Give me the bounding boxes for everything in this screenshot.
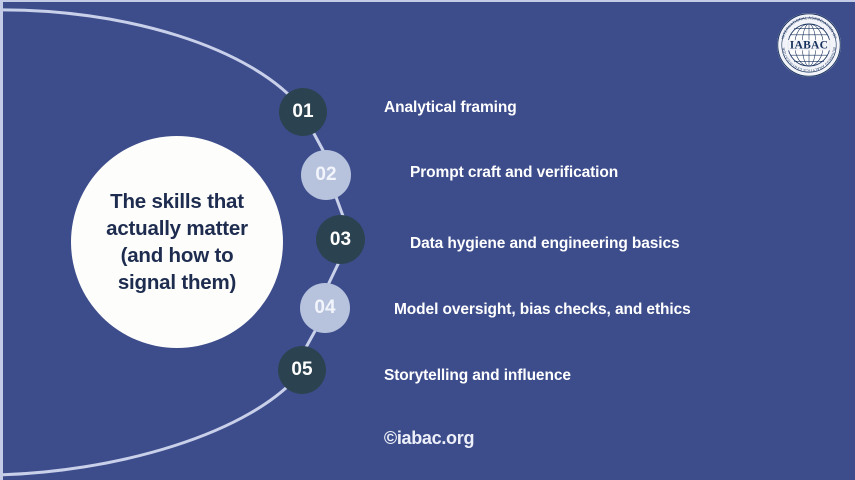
step-badge-03[interactable]: 03 bbox=[316, 215, 365, 264]
step-badge-05[interactable]: 05 bbox=[278, 346, 326, 394]
logo-acronym: IABAC bbox=[790, 39, 829, 52]
step-label-01: Analytical framing bbox=[384, 99, 517, 117]
step-badge-01[interactable]: 01 bbox=[279, 88, 327, 136]
step-label-04: Model oversight, bias checks, and ethics bbox=[394, 301, 691, 319]
copyright-icon: © bbox=[384, 428, 397, 448]
step-label-05: Storytelling and influence bbox=[384, 367, 571, 385]
step-badge-02[interactable]: 02 bbox=[301, 150, 351, 200]
step-label-02: Prompt craft and verification bbox=[410, 164, 618, 182]
iabac-logo: IABAC INTERNATIONAL ASSOCIATION OF BUSIN… bbox=[775, 11, 843, 79]
step-badge-04[interactable]: 04 bbox=[300, 283, 350, 333]
infographic-canvas: The skills that actually matter (and how… bbox=[0, 0, 855, 480]
site-name: iabac.org bbox=[397, 428, 474, 448]
step-label-03: Data hygiene and engineering basics bbox=[410, 235, 680, 253]
footer-watermark: ©iabac.org bbox=[3, 428, 855, 449]
hero-circle: The skills that actually matter (and how… bbox=[71, 136, 283, 348]
page-title: The skills that actually matter (and how… bbox=[89, 188, 265, 296]
